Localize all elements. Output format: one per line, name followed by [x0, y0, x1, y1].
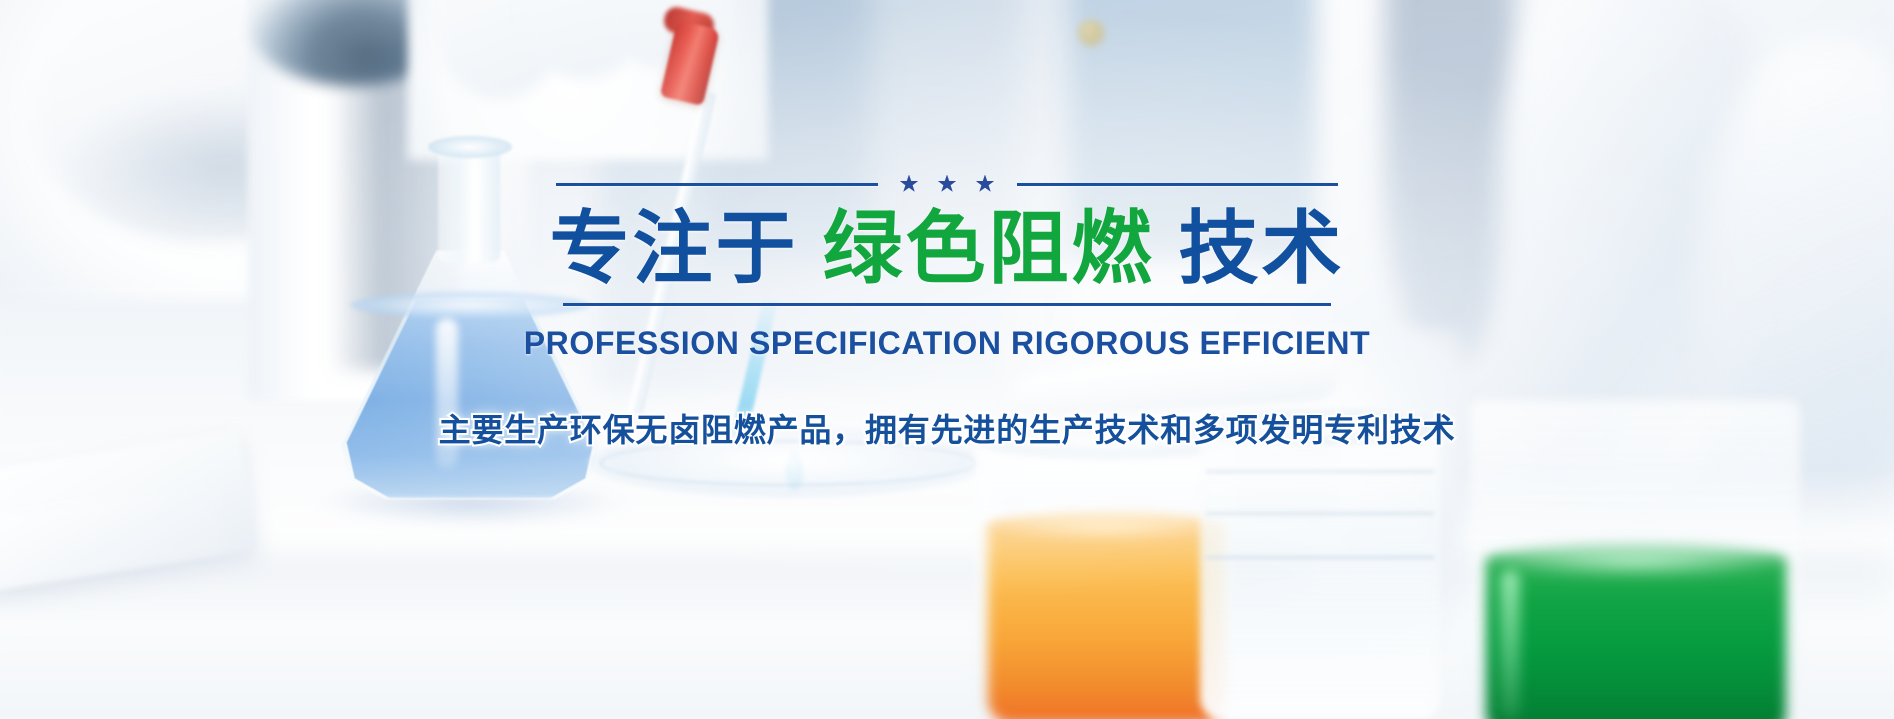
headline-part-2: 绿色阻燃 [823, 204, 1155, 293]
decorative-rule-with-stars [556, 172, 1338, 196]
star-icon [900, 175, 919, 194]
page-title: 专注于绿色阻燃技术 [550, 206, 1345, 292]
headline-part-3: 技术 [1179, 204, 1345, 293]
decorative-rule-right [1017, 183, 1339, 186]
banner-subtitle: PROFESSION SPECIFICATION RIGOROUS EFFICI… [524, 325, 1371, 362]
star-icon [976, 175, 995, 194]
decorative-rule-bottom [563, 303, 1331, 306]
banner-content: 专注于绿色阻燃技术 PROFESSION SPECIFICATION RIGOR… [0, 0, 1894, 719]
headline-part-1: 专注于 [550, 204, 799, 293]
star-group [878, 175, 1017, 194]
decorative-rule-left [556, 183, 878, 186]
star-icon [938, 175, 957, 194]
hero-banner: 专注于绿色阻燃技术 PROFESSION SPECIFICATION RIGOR… [0, 0, 1894, 719]
banner-tagline: 主要生产环保无卤阻燃产品，拥有先进的生产技术和多项发明专利技术 [439, 405, 1456, 451]
